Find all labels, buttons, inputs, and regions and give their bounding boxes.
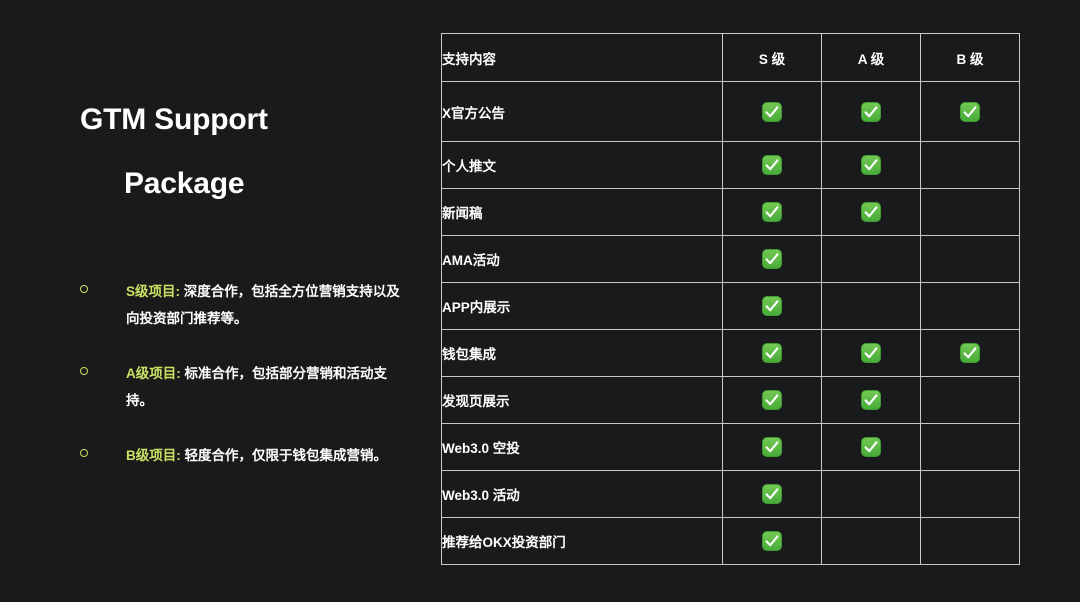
row-label: 钱包集成 [442, 330, 723, 377]
empty-cell-marker [861, 247, 881, 267]
cell-grade-s [723, 377, 822, 424]
page-title-line-1: GTM Support [80, 103, 268, 136]
empty-cell-marker [861, 294, 881, 314]
list-item-text: A级项目: 标准合作，包括部分营销和活动支持。 [126, 360, 400, 414]
table-body: X官方公告 个人推文 [442, 82, 1020, 565]
cell-grade-a [822, 377, 921, 424]
check-mark-icon [762, 296, 782, 316]
cell-grade-s [723, 424, 822, 471]
table-row: Web3.0 空投 [442, 424, 1020, 471]
tier-body-b: 轻度合作，仅限于钱包集成营销。 [181, 448, 387, 463]
table-row: AMA活动 [442, 236, 1020, 283]
cell-grade-b [921, 236, 1020, 283]
row-label: 个人推文 [442, 142, 723, 189]
cell-grade-b [921, 142, 1020, 189]
table-header: 支持内容 S 级 A 级 B 级 [442, 34, 1020, 82]
cell-grade-b [921, 471, 1020, 518]
row-label: Web3.0 空投 [442, 424, 723, 471]
cell-grade-b [921, 424, 1020, 471]
page-title: GTM Support Package [80, 88, 410, 216]
cell-grade-a [822, 518, 921, 565]
cell-grade-b [921, 283, 1020, 330]
empty-cell-marker [960, 200, 980, 220]
cell-grade-s [723, 82, 822, 142]
row-label: X官方公告 [442, 82, 723, 142]
cell-grade-b [921, 189, 1020, 236]
cell-grade-b [921, 82, 1020, 142]
table-row: 发现页展示 [442, 377, 1020, 424]
check-mark-icon [960, 343, 980, 363]
cell-grade-s [723, 330, 822, 377]
table-row: APP内展示 [442, 283, 1020, 330]
empty-cell-marker [960, 529, 980, 549]
check-mark-icon [861, 155, 881, 175]
cell-grade-a [822, 82, 921, 142]
table-row: X官方公告 [442, 82, 1020, 142]
cell-grade-b [921, 330, 1020, 377]
check-mark-icon [861, 102, 881, 122]
ring-bullet-icon [80, 449, 88, 457]
list-item: B级项目: 轻度合作，仅限于钱包集成营销。 [80, 442, 400, 469]
cell-grade-a [822, 330, 921, 377]
empty-cell-marker [960, 153, 980, 173]
page-title-line-2: Package [80, 152, 410, 216]
list-item-text: B级项目: 轻度合作，仅限于钱包集成营销。 [126, 442, 400, 469]
tier-description-list: S级项目: 深度合作，包括全方位营销支持以及向投资部门推荐等。 A级项目: 标准… [80, 278, 400, 469]
table-header-row: 支持内容 S 级 A 级 B 级 [442, 34, 1020, 82]
cell-grade-a [822, 471, 921, 518]
cell-grade-s [723, 142, 822, 189]
cell-grade-s [723, 471, 822, 518]
empty-cell-marker [960, 435, 980, 455]
ring-bullet-icon [80, 285, 88, 293]
check-mark-icon [762, 202, 782, 222]
ring-bullet-icon [80, 367, 88, 375]
list-item: A级项目: 标准合作，包括部分营销和活动支持。 [80, 360, 400, 414]
column-header-a: A 级 [822, 34, 921, 82]
table-row: 推荐给OKX投资部门 [442, 518, 1020, 565]
cell-grade-s [723, 283, 822, 330]
check-mark-icon [762, 343, 782, 363]
cell-grade-a [822, 424, 921, 471]
cell-grade-a [822, 236, 921, 283]
cell-grade-s [723, 189, 822, 236]
cell-grade-s [723, 236, 822, 283]
empty-cell-marker [861, 529, 881, 549]
empty-cell-marker [960, 482, 980, 502]
check-mark-icon [861, 343, 881, 363]
column-header-content: 支持内容 [442, 34, 723, 82]
table-row: 个人推文 [442, 142, 1020, 189]
check-mark-icon [762, 390, 782, 410]
check-mark-icon [762, 531, 782, 551]
empty-cell-marker [861, 482, 881, 502]
empty-cell-marker [960, 294, 980, 314]
list-item-text: S级项目: 深度合作，包括全方位营销支持以及向投资部门推荐等。 [126, 278, 400, 332]
row-label: 推荐给OKX投资部门 [442, 518, 723, 565]
cell-grade-b [921, 518, 1020, 565]
list-item: S级项目: 深度合作，包括全方位营销支持以及向投资部门推荐等。 [80, 278, 400, 332]
row-label: APP内展示 [442, 283, 723, 330]
check-mark-icon [762, 484, 782, 504]
check-mark-icon [762, 437, 782, 457]
table-row: 钱包集成 [442, 330, 1020, 377]
table-row: Web3.0 活动 [442, 471, 1020, 518]
check-mark-icon [762, 249, 782, 269]
check-mark-icon [861, 437, 881, 457]
cell-grade-a [822, 189, 921, 236]
cell-grade-s [723, 518, 822, 565]
empty-cell-marker [960, 247, 980, 267]
check-mark-icon [762, 155, 782, 175]
cell-grade-b [921, 377, 1020, 424]
cell-grade-a [822, 283, 921, 330]
row-label: 发现页展示 [442, 377, 723, 424]
row-label: 新闻稿 [442, 189, 723, 236]
empty-cell-marker [960, 388, 980, 408]
column-header-b: B 级 [921, 34, 1020, 82]
check-mark-icon [960, 102, 980, 122]
row-label: AMA活动 [442, 236, 723, 283]
check-mark-icon [762, 102, 782, 122]
check-mark-icon [861, 390, 881, 410]
cell-grade-a [822, 142, 921, 189]
support-matrix-table: 支持内容 S 级 A 级 B 级 X官方公告 [441, 33, 1020, 565]
column-header-s: S 级 [723, 34, 822, 82]
table-row: 新闻稿 [442, 189, 1020, 236]
tier-label-b: B级项目: [126, 448, 181, 463]
tier-label-a: A级项目: [126, 366, 181, 381]
row-label: Web3.0 活动 [442, 471, 723, 518]
left-panel: GTM Support Package S级项目: 深度合作，包括全方位营销支持… [0, 0, 430, 602]
tier-label-s: S级项目: [126, 284, 180, 299]
check-mark-icon [861, 202, 881, 222]
